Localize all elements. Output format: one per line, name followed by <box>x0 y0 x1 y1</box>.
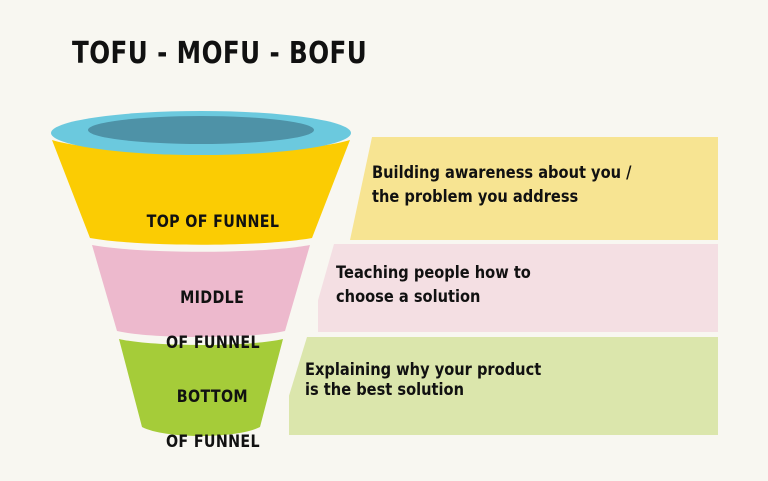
description-mofu-line2: choose a solution <box>336 285 480 309</box>
funnel-label-tofu-line1: TOP OF FUNNEL <box>146 211 279 233</box>
description-band-mofu: Teaching people how to choose a solution <box>318 244 718 332</box>
description-tofu-line2: the problem you address <box>372 185 578 209</box>
description-bofu-line2: is the best solution <box>305 378 464 402</box>
funnel-rim-inner-icon <box>88 116 314 144</box>
funnel-label-bofu-line2: OF FUNNEL <box>166 431 260 453</box>
funnel-label-mofu-line1: MIDDLE <box>181 287 245 309</box>
description-mofu-line1: Teaching people how to <box>336 261 531 285</box>
description-band-tofu: Building awareness about you / the probl… <box>350 137 718 240</box>
infographic-canvas: TOFU - MOFU - BOFU TOP OF FUNNEL MIDDLE … <box>0 0 768 481</box>
description-tofu-line1: Building awareness about you / <box>372 161 631 185</box>
description-band-bofu: Explaining why your product is the best … <box>289 337 718 435</box>
funnel-label-mofu-line2: OF FUNNEL <box>166 332 260 354</box>
funnel-label-mofu: MIDDLE OF FUNNEL <box>105 265 295 377</box>
funnel-label-tofu: TOP OF FUNNEL <box>95 189 305 256</box>
funnel-label-bofu-line1: BOTTOM <box>177 386 248 408</box>
funnel-label-bofu: BOTTOM OF FUNNEL <box>110 364 290 476</box>
band-notch-tofu <box>350 137 372 240</box>
